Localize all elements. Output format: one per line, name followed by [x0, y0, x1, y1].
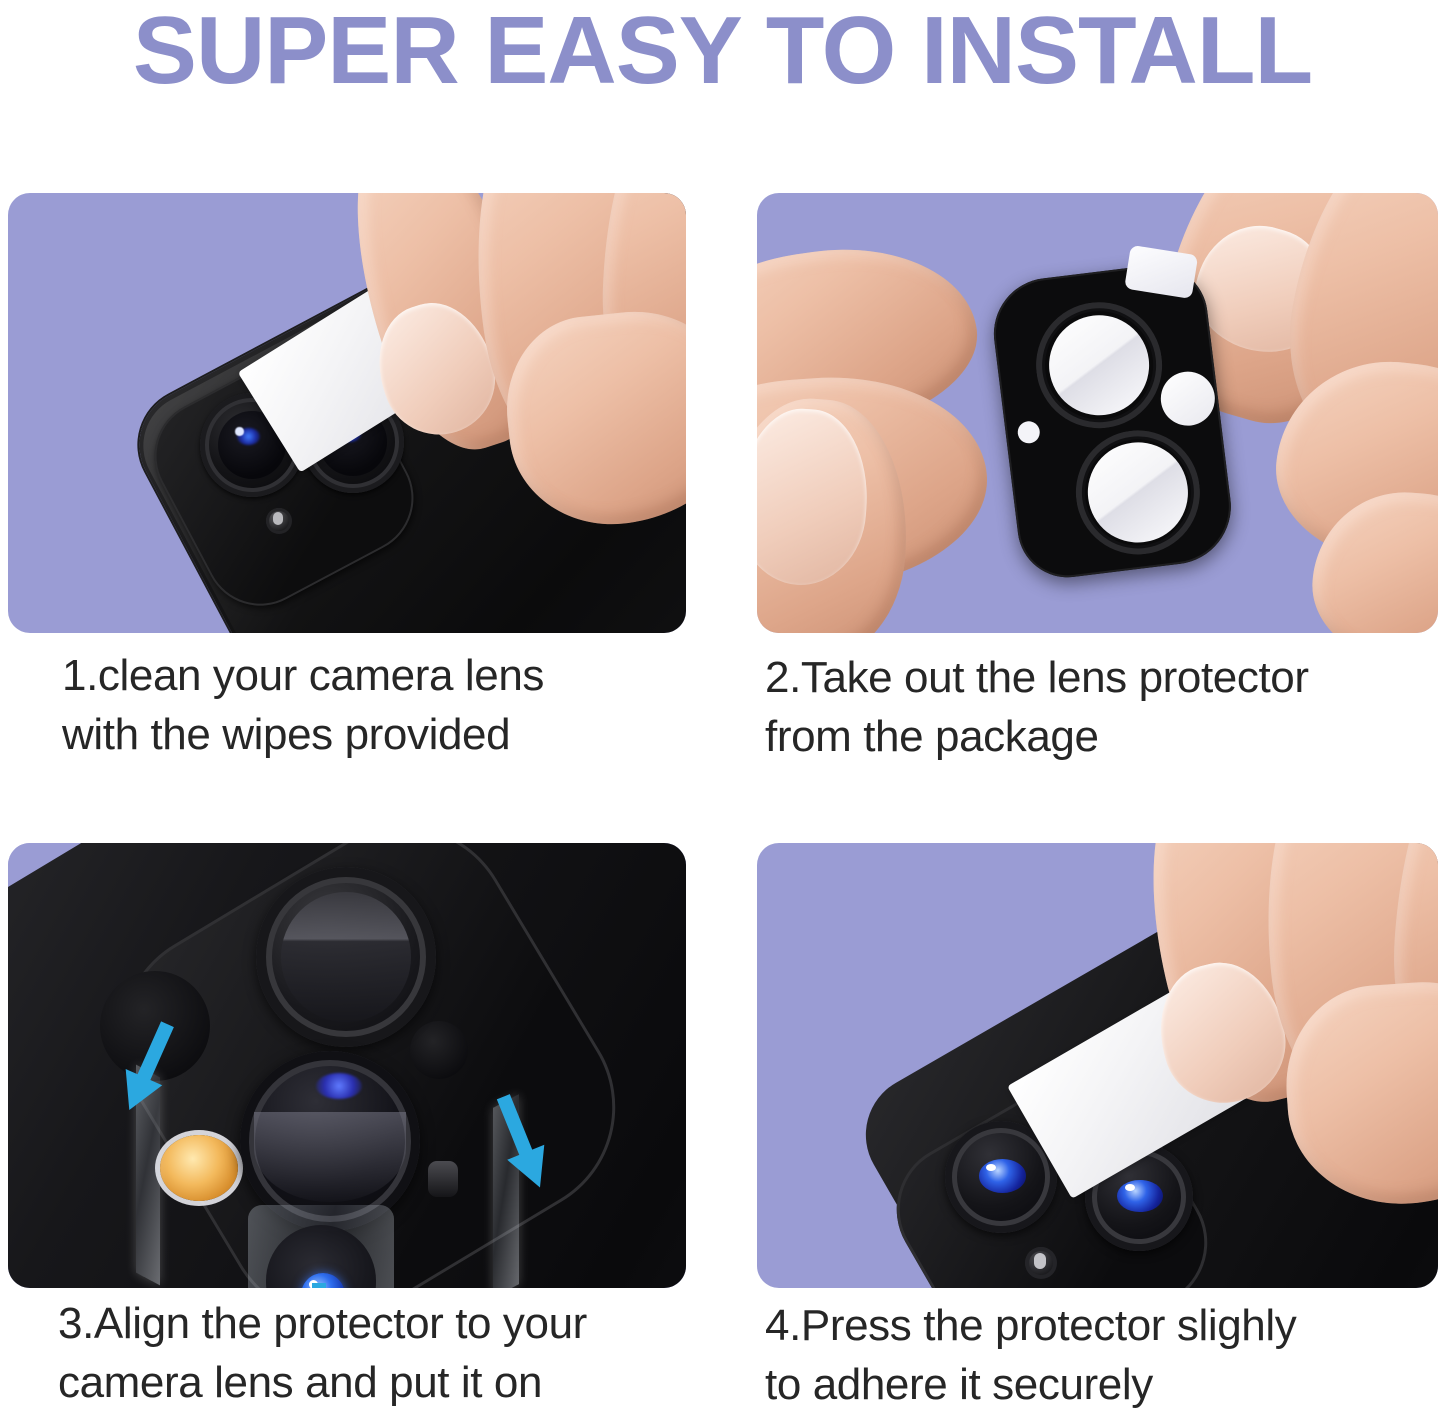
step-3-image: [8, 843, 686, 1288]
page-title: SUPER EASY TO INSTALL: [0, 0, 1445, 106]
step-3-caption: 3.Align the protector to your camera len…: [58, 1294, 728, 1412]
step-4-panel: [757, 843, 1438, 1288]
microphone-icon: [428, 1161, 458, 1197]
step-2-panel: [757, 193, 1438, 633]
lens-protector-icon: [988, 259, 1238, 583]
step-4-image: [757, 843, 1438, 1288]
sensor-cutout: [1016, 420, 1041, 445]
step-2-caption: 2.Take out the lens protector from the p…: [765, 648, 1445, 766]
sensor-icon: [410, 1021, 468, 1079]
step-2-image: [757, 193, 1438, 633]
step-4-caption: 4.Press the protector slighly to adhere …: [765, 1296, 1445, 1414]
protector-ring: [1069, 423, 1207, 561]
peel-tab: [1124, 245, 1198, 299]
phone-camera-lens: [248, 1205, 394, 1288]
steps-grid: 1.clean your camera lens with the wipes …: [0, 176, 1445, 1420]
flash-icon: [1025, 1247, 1057, 1279]
flash-icon: [160, 1135, 238, 1201]
flash-cutout: [1158, 369, 1218, 429]
protector-glass-ring: [256, 867, 436, 1047]
step-1-caption: 1.clean your camera lens with the wipes …: [62, 646, 722, 764]
step-3-panel: [8, 843, 686, 1288]
step-1-panel: [8, 193, 686, 633]
camera-lens-icon: [240, 1051, 420, 1231]
flash-icon: [266, 508, 292, 534]
protector-ring: [1029, 295, 1169, 435]
down-arrow-icon: [296, 1283, 342, 1288]
step-1-image: [8, 193, 686, 633]
